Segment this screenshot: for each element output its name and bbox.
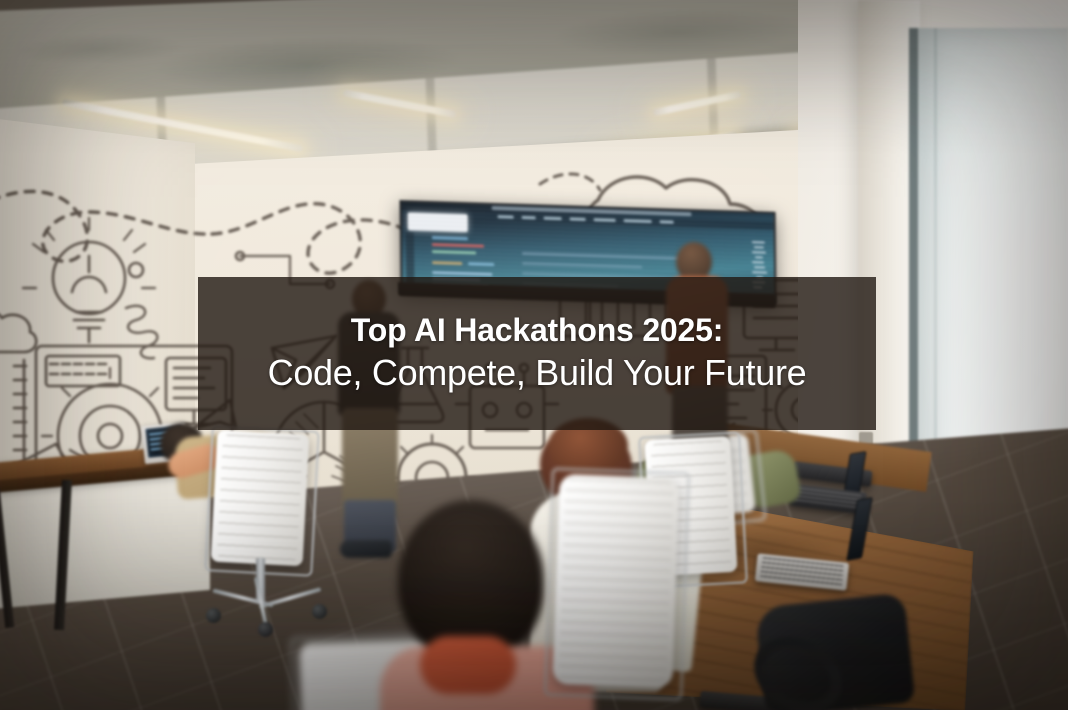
hero-banner: Top AI Hackathons 2025: Code, Compete, B… xyxy=(0,0,1068,710)
hero-title-line-2: Code, Compete, Build Your Future xyxy=(268,353,807,393)
hero-title-line-1: Top AI Hackathons 2025: xyxy=(351,313,723,349)
title-overlay: Top AI Hackathons 2025: Code, Compete, B… xyxy=(198,277,876,430)
